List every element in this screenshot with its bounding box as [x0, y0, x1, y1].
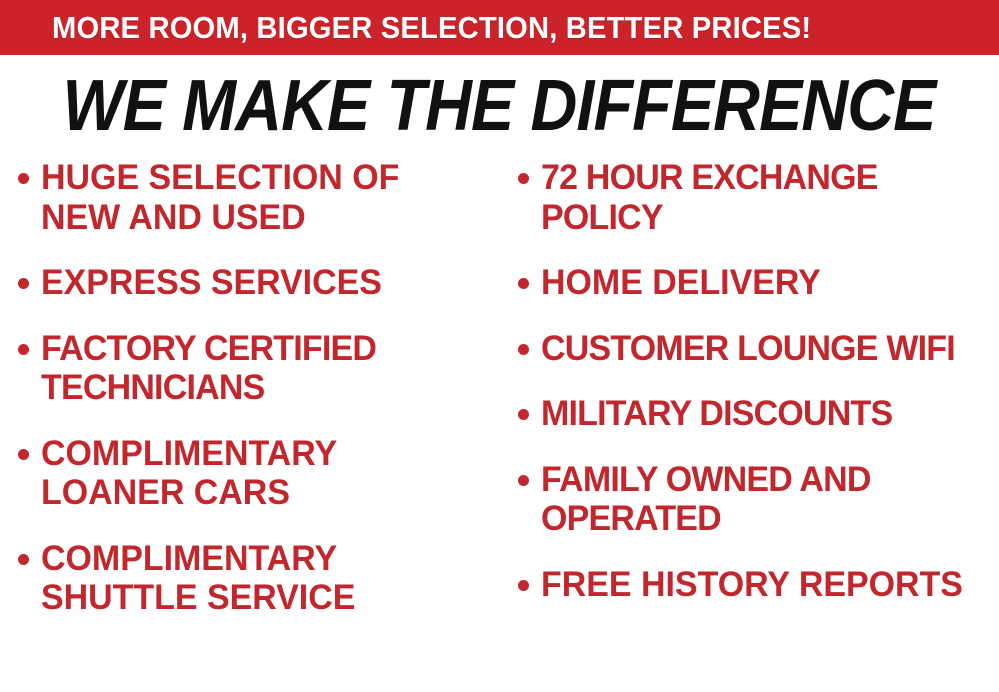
bullet-dot-icon [518, 475, 529, 486]
promo-banner: MORE ROOM, BIGGER SELECTION, BETTER PRIC… [0, 0, 999, 55]
feature-column-left: HUGE SELECTION OF NEW AND USED EXPRESS S… [18, 158, 496, 644]
list-item-label: MILITARY DISCOUNTS [541, 394, 892, 434]
list-item: FACTORY CERTIFIED TECHNICIANS [18, 329, 496, 408]
list-item: 72 HOUR EXCHANGE POLICY [518, 158, 999, 237]
list-item: FAMILY OWNED AND OPERATED [518, 460, 999, 539]
bullet-dot-icon [518, 409, 529, 420]
list-item-label: COMPLIMENTARY LOANER CARS [41, 434, 482, 513]
list-item: MILITARY DISCOUNTS [518, 394, 999, 434]
bullet-dot-icon [518, 344, 529, 355]
headline-text: WE MAKE THE DIFFERENCE [63, 70, 936, 142]
advertisement-banner: MORE ROOM, BIGGER SELECTION, BETTER PRIC… [0, 0, 999, 692]
bullet-dot-icon [18, 278, 29, 289]
list-item-label: FAMILY OWNED AND OPERATED [541, 460, 985, 539]
promo-banner-text: MORE ROOM, BIGGER SELECTION, BETTER PRIC… [52, 12, 811, 43]
list-item: HOME DELIVERY [518, 263, 999, 303]
bullet-dot-icon [518, 580, 529, 591]
list-item-label: FACTORY CERTIFIED TECHNICIANS [41, 329, 482, 408]
list-item-label: COMPLIMENTARY SHUTTLE SERVICE [41, 539, 482, 618]
bullet-dot-icon [18, 173, 29, 184]
bullet-dot-icon [518, 173, 529, 184]
list-item: EXPRESS SERVICES [18, 263, 496, 303]
list-item: HUGE SELECTION OF NEW AND USED [18, 158, 496, 237]
list-item-label: HOME DELIVERY [541, 263, 821, 303]
list-item-label: HUGE SELECTION OF NEW AND USED [41, 158, 482, 237]
list-item: CUSTOMER LOUNGE WIFI [518, 329, 999, 369]
list-item-label: 72 HOUR EXCHANGE POLICY [541, 158, 985, 237]
list-item-label: EXPRESS SERVICES [41, 263, 382, 303]
list-item-label: FREE HISTORY REPORTS [541, 565, 963, 605]
bullet-dot-icon [18, 344, 29, 355]
bullet-dot-icon [518, 278, 529, 289]
bullet-dot-icon [18, 449, 29, 460]
list-item: FREE HISTORY REPORTS [518, 565, 999, 605]
bullet-dot-icon [18, 554, 29, 565]
feature-list: HUGE SELECTION OF NEW AND USED EXPRESS S… [0, 158, 999, 692]
list-item-label: CUSTOMER LOUNGE WIFI [541, 329, 955, 369]
list-item: COMPLIMENTARY SHUTTLE SERVICE [18, 539, 496, 618]
list-item: COMPLIMENTARY LOANER CARS [18, 434, 496, 513]
feature-column-right: 72 HOUR EXCHANGE POLICY HOME DELIVERY CU… [518, 158, 999, 630]
headline: WE MAKE THE DIFFERENCE [0, 70, 999, 142]
